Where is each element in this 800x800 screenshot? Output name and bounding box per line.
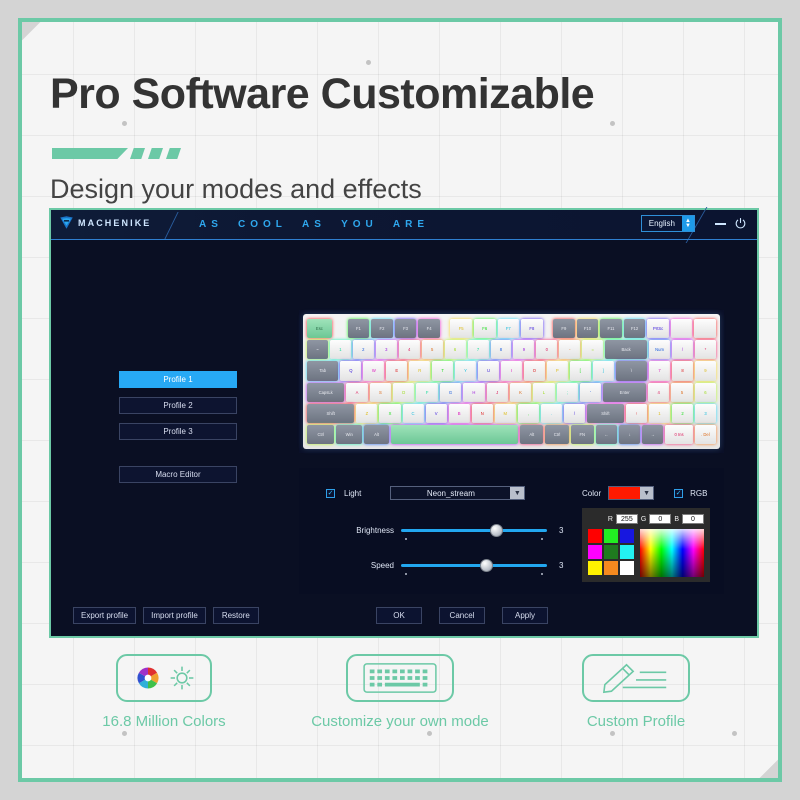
dialog-ok-button[interactable]: OK	[376, 607, 422, 624]
page-subtitle: Design your modes and effects	[50, 174, 422, 205]
keyboard-key[interactable]: Y	[455, 361, 476, 380]
grid-dot	[366, 60, 371, 65]
keyboard-key[interactable]: 5	[422, 340, 443, 359]
keyboard-key[interactable]: 3	[376, 340, 397, 359]
keyboard-key[interactable]: [	[570, 361, 591, 380]
page-title: Pro Software Customizable	[50, 70, 594, 119]
color-swatch[interactable]	[604, 529, 618, 543]
keyboard-key[interactable]: PrtSc	[647, 319, 669, 338]
color-swatch[interactable]	[604, 545, 618, 559]
light-toggle-row: ✓ Light Neon_stream ▼	[326, 486, 525, 500]
keyboard-key[interactable]: 7	[649, 361, 670, 380]
brand-name: MACHENIKE	[78, 218, 151, 228]
keyboard-key[interactable]: F5	[450, 319, 472, 338]
keyboard-key[interactable]: H	[463, 383, 484, 402]
keyboard-key[interactable]: M	[495, 404, 516, 423]
keyboard-key[interactable]: F6	[474, 319, 496, 338]
keyboard-key[interactable]: Win	[336, 425, 361, 444]
keyboard-key[interactable]: Ctrl	[545, 425, 568, 444]
feature-customize: Customize your own mode	[305, 654, 495, 732]
keyboard-row: EscF1F2F3F4F5F6F7F8F9F10F11F12PrtSc	[307, 319, 716, 338]
app-titlebar: MACHENIKE AS COOL AS YOU ARE English ▲▼	[51, 210, 757, 240]
keyboard-key[interactable]: Alt	[364, 425, 389, 444]
color-dropdown[interactable]: ▼	[608, 486, 654, 500]
keyboard-spacer	[334, 319, 346, 338]
chevron-down-icon[interactable]: ▼	[640, 487, 653, 499]
r-input[interactable]: 255	[616, 514, 638, 524]
keyboard-row: CtrlWinAltAltCtrlFN←↓→0 Ins. Del	[307, 425, 716, 444]
rgb-inputs-row: R 255 G 0 B 0	[588, 514, 704, 524]
software-window: MACHENIKE AS COOL AS YOU ARE English ▲▼	[49, 208, 759, 638]
color-swatch[interactable]	[620, 561, 634, 575]
feature-label: Custom Profile	[541, 712, 731, 732]
keyboard-key[interactable]: F3	[395, 319, 417, 338]
keyboard-key[interactable]: S	[370, 383, 391, 402]
current-color-swatch	[609, 487, 640, 499]
b-label: B	[674, 516, 679, 523]
keyboard-key[interactable]: 8	[491, 340, 512, 359]
keyboard-key[interactable]: N	[472, 404, 493, 423]
keyboard-key[interactable]: ,	[518, 404, 539, 423]
keyboard-key[interactable]: Back	[605, 340, 647, 359]
b-input[interactable]: 0	[682, 514, 704, 524]
speed-slider[interactable]	[401, 564, 547, 567]
keyboard-key[interactable]: .	[541, 404, 562, 423]
keyboard-row: CapsLkASDFGHJKL;'Enter456	[307, 383, 716, 402]
keyboard-key[interactable]: 5	[671, 383, 692, 402]
color-swatch[interactable]	[588, 545, 602, 559]
keyboard-key[interactable]: 4	[648, 383, 669, 402]
keyboard-key[interactable]: *	[695, 340, 716, 359]
keyboard-key[interactable]: F	[416, 383, 437, 402]
language-selector[interactable]: English ▲▼	[641, 215, 695, 232]
keyboard-key[interactable]: FN	[571, 425, 594, 444]
effect-mode-value: Neon_stream	[391, 489, 510, 498]
keyboard-key[interactable]: 3	[695, 404, 716, 423]
keyboard-key[interactable]: Shift	[587, 404, 624, 423]
profile-list: Profile 1 Profile 2 Profile 3 Macro Edit…	[119, 371, 237, 483]
grid-dot	[122, 121, 127, 126]
keyboard-key[interactable]: →	[642, 425, 663, 444]
feature-strip: 16.8 Million Colors	[22, 654, 778, 732]
keyboard-key[interactable]: Enter	[603, 383, 646, 402]
color-swatch[interactable]	[620, 545, 634, 559]
speed-ticks	[401, 573, 547, 577]
keyboard-key[interactable]: Ctrl	[307, 425, 334, 444]
brightness-slider[interactable]	[401, 529, 547, 532]
keyboard-row: ShiftZXCVBNM,./Shift↑123	[307, 404, 716, 423]
keyboard-key[interactable]: 6	[695, 383, 716, 402]
profile-import-profile-button[interactable]: Import profile	[143, 607, 206, 624]
power-icon[interactable]	[734, 217, 747, 230]
keyboard-key[interactable]: F7	[498, 319, 520, 338]
chevron-down-icon[interactable]: ▼	[510, 487, 524, 499]
keyboard-key[interactable]: 7	[468, 340, 489, 359]
keyboard-key[interactable]: R	[409, 361, 430, 380]
speed-label: Speed	[326, 561, 401, 570]
keyboard-key[interactable]: 8	[672, 361, 693, 380]
keyboard-key[interactable]: ]	[593, 361, 614, 380]
color-swatch[interactable]	[588, 561, 602, 575]
keyboard-key[interactable]: F10	[577, 319, 599, 338]
keyboard-key[interactable]: Tab	[307, 361, 338, 380]
light-checkbox[interactable]: ✓	[326, 489, 335, 498]
keyboard-key[interactable]: ~	[307, 340, 328, 359]
keyboard-key[interactable]: C	[403, 404, 424, 423]
feature-colors: 16.8 Million Colors	[69, 654, 259, 732]
color-wheel-icon	[133, 663, 163, 693]
keyboard-key[interactable]: ;	[557, 383, 578, 402]
g-label: G	[641, 516, 646, 523]
keyboard-key[interactable]: V	[426, 404, 447, 423]
keyboard-key[interactable]: Z	[356, 404, 377, 423]
keyboard-key[interactable]: Alt	[520, 425, 543, 444]
keyboard-key[interactable]: U	[478, 361, 499, 380]
keyboard-key[interactable]: -	[559, 340, 580, 359]
color-gradient-field[interactable]	[640, 529, 704, 577]
color-header-row: Color ▼ ✓ RGB	[582, 486, 707, 500]
dialog-cancel-button[interactable]: Cancel	[439, 607, 485, 624]
keyboard-key[interactable]: W	[363, 361, 384, 380]
feature-icon-box	[582, 654, 690, 702]
language-spinner-icon[interactable]: ▲▼	[682, 216, 694, 231]
color-swatch[interactable]	[588, 529, 602, 543]
keyboard-key[interactable]: Q	[340, 361, 361, 380]
keyboard-key[interactable]: I	[501, 361, 522, 380]
keyboard-key[interactable]: Shift	[307, 404, 354, 423]
keyboard-preview: EscF1F2F3F4F5F6F7F8F9F10F11F12PrtSc~1234…	[299, 310, 724, 453]
brightness-sun-icon	[168, 664, 196, 692]
keyboard-key[interactable]: F2	[371, 319, 393, 338]
app-content: Profile 1 Profile 2 Profile 3 Macro Edit…	[51, 240, 757, 638]
pencil-profile-icon	[597, 661, 675, 695]
keyboard-key[interactable]: \	[616, 361, 647, 380]
brightness-value: 3	[559, 526, 563, 535]
effect-mode-dropdown[interactable]: Neon_stream ▼	[390, 486, 525, 500]
keyboard-key[interactable]: F12	[624, 319, 646, 338]
keyboard-key[interactable]: 1	[330, 340, 351, 359]
keyboard-row: ~1234567890-=BackNum/*	[307, 340, 716, 359]
app-tagline: AS COOL AS YOU ARE	[199, 219, 429, 230]
keyboard-key[interactable]: 2	[353, 340, 374, 359]
keyboard-key[interactable]: E	[386, 361, 407, 380]
keyboard-key[interactable]: 9	[513, 340, 534, 359]
brightness-ticks	[401, 538, 547, 542]
keyboard-key[interactable]: G	[440, 383, 461, 402]
speed-slider-knob[interactable]	[480, 559, 493, 572]
keyboard-key[interactable]: 0	[536, 340, 557, 359]
profile-export-profile-button[interactable]: Export profile	[73, 607, 136, 624]
keyboard-key[interactable]: P	[547, 361, 568, 380]
keyboard-layout[interactable]: EscF1F2F3F4F5F6F7F8F9F10F11F12PrtSc~1234…	[303, 314, 720, 449]
keyboard-key[interactable]: J	[487, 383, 508, 402]
keyboard-key[interactable]: T	[432, 361, 453, 380]
profile-button-3[interactable]: Profile 3	[119, 423, 237, 440]
keyboard-key[interactable]: '	[580, 383, 601, 402]
minimize-icon[interactable]	[715, 223, 726, 225]
keyboard-key[interactable]	[694, 319, 716, 338]
feature-icon-box	[346, 654, 454, 702]
keyboard-key[interactable]	[671, 319, 693, 338]
speed-slider-row: Speed 3	[326, 561, 563, 570]
keyboard-key[interactable]: F4	[418, 319, 440, 338]
rgb-label: RGB	[690, 489, 707, 498]
keyboard-key[interactable]: 0 Ins	[665, 425, 692, 444]
keyboard-spacer	[545, 319, 551, 338]
keyboard-key[interactable]: ↓	[619, 425, 640, 444]
keyboard-key[interactable]: L	[533, 383, 554, 402]
keyboard-key[interactable]: /	[564, 404, 585, 423]
color-label: Color	[582, 489, 601, 498]
brightness-slider-knob[interactable]	[490, 524, 503, 537]
color-swatch-grid[interactable]	[588, 529, 634, 577]
macro-editor-button[interactable]: Macro Editor	[119, 466, 237, 483]
brightness-slider-row: Brightness 3	[326, 526, 563, 535]
color-picker: R 255 G 0 B 0	[582, 508, 710, 582]
keyboard-key[interactable]: A	[346, 383, 367, 402]
header-divider	[164, 212, 178, 239]
keyboard-key[interactable]: F11	[600, 319, 622, 338]
keyboard-key[interactable]: Num	[649, 340, 670, 359]
keyboard-key[interactable]: CapsLk	[307, 383, 344, 402]
keyboard-key[interactable]: Esc	[307, 319, 332, 338]
profile-button-1[interactable]: Profile 1	[119, 371, 237, 388]
keyboard-key[interactable]: F8	[521, 319, 543, 338]
keyboard-spacer	[442, 319, 448, 338]
keyboard-icon	[361, 661, 439, 695]
picker-body	[588, 529, 704, 577]
keyboard-key[interactable]: B	[449, 404, 470, 423]
keyboard-key[interactable]: 2	[672, 404, 693, 423]
keyboard-key[interactable]: F1	[348, 319, 370, 338]
keyboard-key[interactable]: D	[393, 383, 414, 402]
feature-icon-box	[116, 654, 212, 702]
keyboard-key[interactable]: 1	[649, 404, 670, 423]
accent-bar	[52, 148, 128, 159]
color-swatch[interactable]	[620, 529, 634, 543]
speed-value: 3	[559, 561, 563, 570]
keyboard-key[interactable]	[391, 425, 518, 444]
color-swatch[interactable]	[604, 561, 618, 575]
keyboard-key[interactable]: /	[672, 340, 693, 359]
g-input[interactable]: 0	[649, 514, 671, 524]
keyboard-key[interactable]: F9	[553, 319, 575, 338]
keyboard-key[interactable]: 6	[445, 340, 466, 359]
lighting-settings-panel: ✓ Light Neon_stream ▼ Brightness	[299, 468, 724, 594]
keyboard-key[interactable]: =	[582, 340, 603, 359]
feature-profile: Custom Profile	[541, 654, 731, 732]
keyboard-key[interactable]: 9	[695, 361, 716, 380]
shield-logo-icon	[59, 215, 74, 230]
keyboard-key[interactable]: K	[510, 383, 531, 402]
keyboard-key[interactable]: O	[524, 361, 545, 380]
feature-label: 16.8 Million Colors	[69, 712, 259, 732]
brand-logo: MACHENIKE	[59, 215, 151, 230]
keyboard-key[interactable]: X	[379, 404, 400, 423]
rgb-checkbox[interactable]: ✓	[674, 489, 683, 498]
keyboard-key[interactable]: ↑	[626, 404, 647, 423]
feature-label: Customize your own mode	[305, 712, 495, 732]
poster-frame: Pro Software Customizable Design your mo…	[18, 18, 782, 782]
profile-action-buttons: Export profileImport profileRestore	[73, 607, 259, 624]
r-label: R	[608, 516, 613, 523]
dialog-action-buttons: OKCancelApply	[376, 607, 548, 624]
profile-button-2[interactable]: Profile 2	[119, 397, 237, 414]
profile-restore-button[interactable]: Restore	[213, 607, 259, 624]
keyboard-key[interactable]: . Del	[695, 425, 716, 444]
dialog-apply-button[interactable]: Apply	[502, 607, 548, 624]
brightness-label: Brightness	[326, 526, 401, 535]
light-label: Light	[344, 489, 361, 498]
keyboard-key[interactable]: 4	[399, 340, 420, 359]
keyboard-key[interactable]: ←	[596, 425, 617, 444]
keyboard-row: TabQWERTYUIOP[]\789	[307, 361, 716, 380]
language-value: English	[642, 216, 682, 231]
grid-dot	[610, 121, 615, 126]
window-controls	[715, 217, 747, 230]
